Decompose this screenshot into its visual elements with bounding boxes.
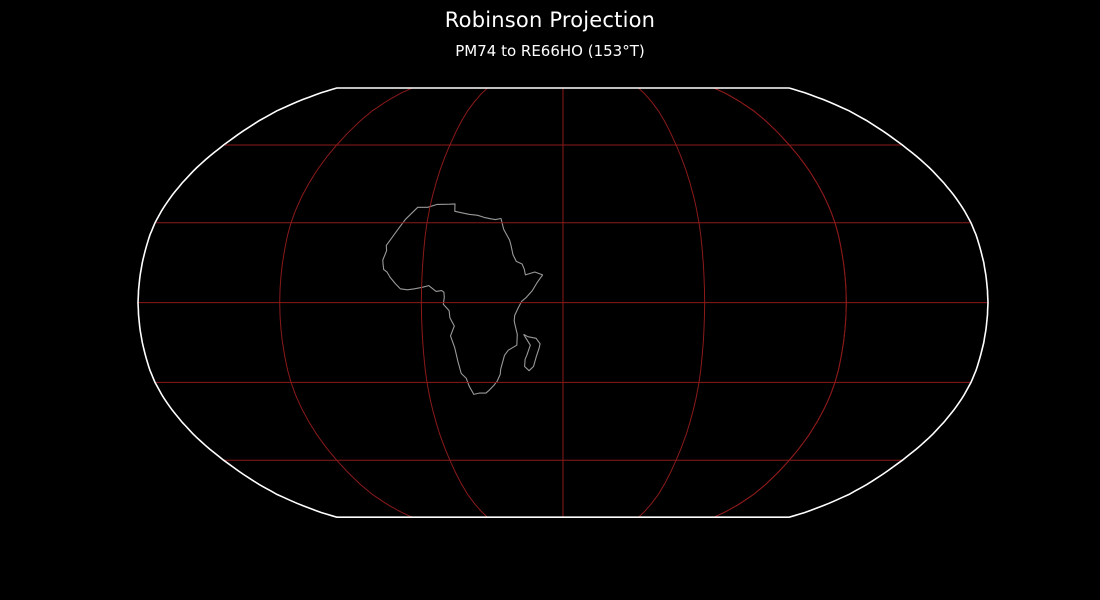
robinson-map-canvas <box>0 0 1100 600</box>
coastlines-layer <box>383 204 543 395</box>
map-figure: Robinson Projection PM74 to RE66HO (153°… <box>0 0 1100 600</box>
graticule-layer <box>138 88 988 517</box>
